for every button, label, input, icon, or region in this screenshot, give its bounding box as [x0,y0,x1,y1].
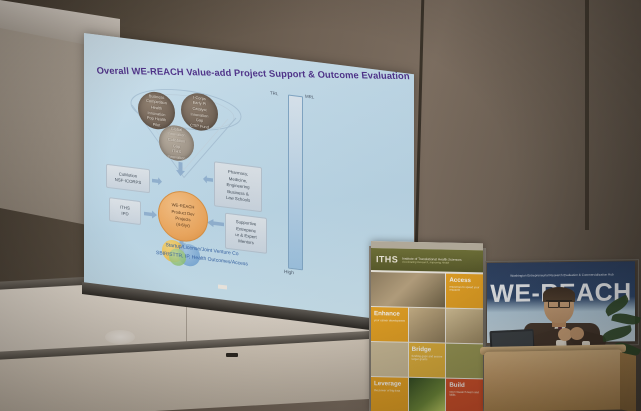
panel-sub: funding gaps and secure larger grants [412,355,444,363]
iths-rollup-banner: ITHS Institute of Translational Health S… [371,241,483,411]
banner-photo-lab [371,272,445,308]
panel-sub: your career development [374,319,406,323]
bubble-line: CTIP Fund [190,122,209,130]
panel-text: Leverage the power of big data [374,381,406,393]
panel-heading: Enhance [374,311,406,318]
presenter-hand-right [570,327,584,340]
conference-room-photo: Overall WE-REACH Value-add Project Suppo… [0,0,641,411]
bubble-line: Pilot [153,121,161,128]
panel-heading: Build [449,383,481,390]
panel-heading: Bridge [412,347,444,354]
iths-tagline: Accelerating Research, Improving Health [402,260,462,264]
trl-mrl-scale-bar [288,95,303,271]
panel-text: Enhance your career development [374,311,406,323]
mrl-label: MRL [305,94,314,100]
core-node-we-reach: WE-REACH Product Dev Projects (4-6/yr) [158,188,208,244]
box-iths-ipd: ITHS IPD [109,197,141,225]
iths-tagline-block: Institute of Translational Health Scienc… [402,256,462,264]
iths-logo: ITHS [376,254,398,264]
panel-text: Access resources to speed your research [449,278,481,294]
panel-heading: Leverage [374,381,406,388]
arrow-mentors-to-core [207,218,224,228]
panel-leverage: Leverage the power of big data [371,377,408,411]
scale-high-label: High [284,270,294,276]
plant-leaf [601,325,633,342]
banner-photo-researcher [409,308,446,343]
projection-screen: Overall WE-REACH Value-add Project Suppo… [84,33,414,324]
presentation-slide: Overall WE-REACH Value-add Project Suppo… [84,33,414,324]
trl-label: TRL [270,90,278,96]
lectern-side [620,352,636,411]
panel-sub: your research team and skills [449,390,481,398]
banner-photo-sample [371,342,408,377]
box-line: IPD [120,211,130,219]
panel-text: Bridge funding gaps and secure larger gr… [412,347,444,363]
panel-heading: Access [449,278,481,285]
panel-bridge: Bridge funding gaps and secure larger gr… [409,343,446,378]
slide-title: Overall WE-REACH Value-add Project Suppo… [96,65,395,81]
box-comotion: CoMotion NSF-ICORPS [106,164,150,194]
box-mentors: Supportive Entrepene ur & Expert Mentors [225,213,267,254]
panel-access: Access resources to speed your research [446,274,483,309]
arrow-iths-to-core [144,210,157,220]
panel-build: Build your research team and skills [446,379,483,411]
core-line: (4-6/yr) [176,222,190,230]
banner-block-olive [446,344,483,379]
panel-enhance: Enhance your career development [371,307,408,342]
lectern [484,350,622,411]
presenter-glasses [546,300,572,307]
banner-photo-data [409,378,446,411]
box-schools: Pharmacy, Medicine, Engineering Business… [214,161,262,212]
banner-header: ITHS Institute of Translational Health S… [371,248,483,272]
panel-text: Build your research team and skills [449,383,481,399]
panel-sub: the power of big data [374,389,406,393]
banner-photo-clinician [446,309,483,344]
box-line: Mentors [235,238,257,247]
banner-panel-grid: Access resources to speed your research … [371,272,483,411]
arrow-comotion-to-core [152,177,162,186]
panel-sub: resources to speed your research [449,285,481,293]
